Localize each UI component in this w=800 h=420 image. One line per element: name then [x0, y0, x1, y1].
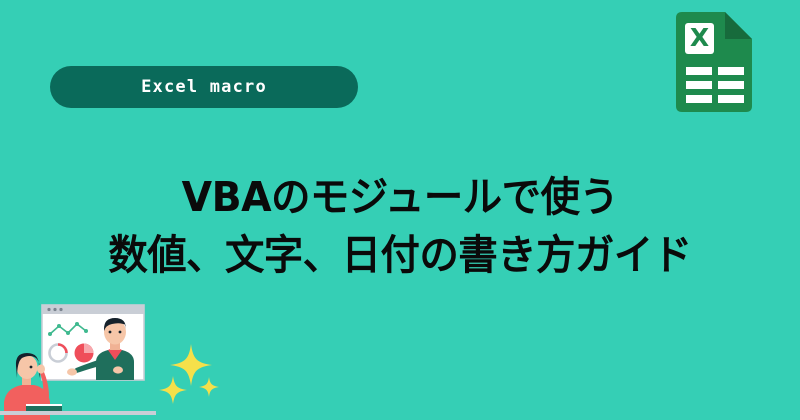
excel-icon-fold — [725, 12, 752, 39]
sparkle-icon-large — [170, 344, 212, 386]
excel-icon-bar — [686, 67, 712, 75]
illustration-pie-chart — [75, 344, 94, 363]
illustration-window-titlebar — [42, 305, 144, 314]
category-badge-label: Excel macro — [141, 77, 267, 97]
sparkle-icon-medium — [159, 376, 187, 404]
excel-icon-bar — [718, 67, 744, 75]
online-presentation-illustration — [0, 300, 156, 420]
excel-file-icon: X — [676, 12, 752, 112]
page-title: VBAのモジュールで使う 数値、文字、日付の書き方ガイド — [0, 168, 800, 284]
sparkle-icon-group — [158, 342, 238, 406]
category-badge: Excel macro — [50, 66, 358, 108]
page-title-line-1: VBAのモジュールで使う — [16, 168, 784, 226]
illustration-window-dot — [59, 308, 62, 311]
excel-icon-letter: X — [690, 23, 709, 52]
excel-icon-bar — [718, 81, 744, 89]
thumbnail-canvas: Excel macro X VBAのモジュールで使う 数値、文字、日付の書き方ガ… — [0, 0, 800, 420]
excel-icon-bar — [686, 95, 712, 103]
page-title-line-2: 数値、文字、日付の書き方ガイド — [16, 226, 784, 284]
sparkle-icon-small — [199, 377, 219, 397]
excel-icon-bar — [718, 95, 744, 103]
illustration-window-dot — [47, 308, 50, 311]
excel-icon-bar — [686, 81, 712, 89]
illustration-window-dot — [53, 308, 56, 311]
